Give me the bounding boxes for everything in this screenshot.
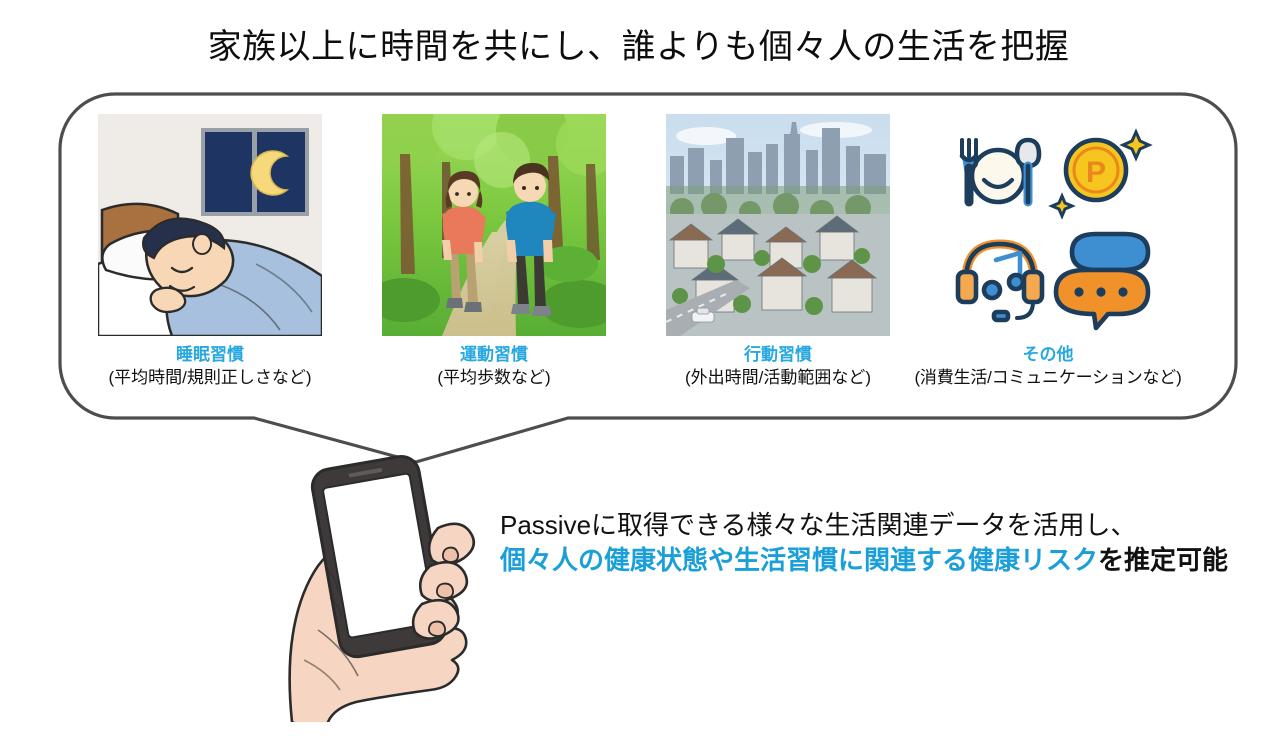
svg-text:P: P — [1086, 156, 1106, 189]
walking-couple-icon — [382, 114, 606, 336]
sleeping-person-icon — [98, 114, 322, 336]
lifestyle-icons-group: P — [936, 114, 1160, 336]
speech-bubble: 睡眠習慣 (平均時間/規則正しさなど) — [58, 92, 1238, 472]
panel-other-subtitle: (消費生活/コミュニケーションなど) — [914, 366, 1181, 389]
panel-other-title: その他 — [1023, 344, 1074, 366]
panel-other[interactable]: P — [932, 114, 1164, 389]
habit-panels: 睡眠習慣 (平均時間/規則正しさなど) — [94, 114, 1206, 414]
panel-exercise[interactable]: 運動習慣 (平均歩数など) — [378, 114, 610, 389]
hand-holding-smartphone-icon — [252, 432, 532, 722]
panel-behavior[interactable]: 行動習慣 (外出時間/活動範囲など) — [662, 114, 894, 389]
summary-line-1: Passiveに取得できる様々な生活関連データを活用し、 — [500, 508, 1260, 542]
summary-line-2-tail: を推定可能 — [1098, 545, 1228, 575]
summary-line-2-accent: 個々人の健康状態や生活習慣に関連する健康リスク — [500, 545, 1098, 575]
cityscape-residential-icon — [666, 114, 890, 336]
panel-sleep-title: 睡眠習慣 — [176, 344, 244, 366]
panel-sleep[interactable]: 睡眠習慣 (平均時間/規則正しさなど) — [94, 114, 326, 389]
panel-behavior-subtitle: (外出時間/活動範囲など) — [685, 366, 871, 389]
panel-exercise-subtitle: (平均歩数など) — [437, 366, 550, 389]
panel-sleep-subtitle: (平均時間/規則正しさなど) — [108, 366, 311, 389]
panel-behavior-title: 行動習慣 — [744, 344, 812, 366]
panel-exercise-title: 運動習慣 — [460, 344, 528, 366]
page-title: 家族以上に時間を共にし、誰よりも個々人の生活を把握 — [0, 26, 1277, 68]
summary-line-2: 個々人の健康状態や生活習慣に関連する健康リスクを推定可能 — [500, 542, 1260, 578]
summary-text: Passiveに取得できる様々な生活関連データを活用し、 個々人の健康状態や生活… — [500, 508, 1260, 578]
